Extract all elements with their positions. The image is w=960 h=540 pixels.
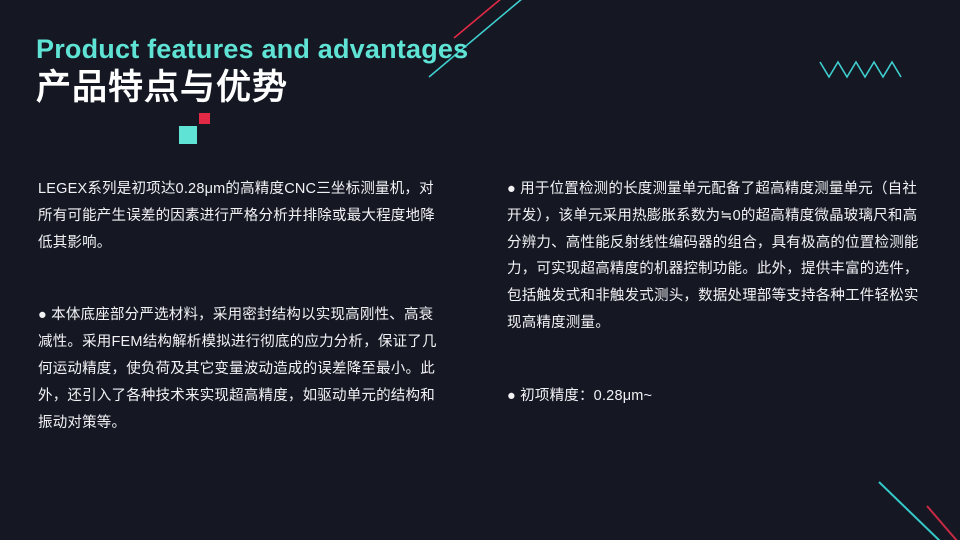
left-paragraph-2: ● 本体底座部分严选材料，采用密封结构以实现高刚性、高衰减性。采用FEM结构解析… [38,302,438,436]
diagonal-line-cyan-bottom [879,482,941,540]
right-paragraph-1: ● 用于位置检测的长度测量单元配备了超高精度测量单元（自社开发），该单元采用热膨… [507,176,919,337]
right-text-column: ● 用于位置检测的长度测量单元配备了超高精度测量单元（自社开发），该单元采用热膨… [507,176,919,410]
diagonal-line-red-bottom [927,506,958,540]
left-text-column: LEGEX系列是初项达0.28μm的高精度CNC三坐标测量机，对所有可能产生误差… [38,176,438,437]
slide-canvas: Product features and advantages 产品特点与优势 … [0,0,960,540]
left-paragraph-1: LEGEX系列是初项达0.28μm的高精度CNC三坐标测量机，对所有可能产生误差… [38,176,438,256]
zigzag-line [820,62,901,77]
title-english: Product features and advantages [36,34,468,65]
title-chinese: 产品特点与优势 [36,67,468,109]
page-title: Product features and advantages 产品特点与优势 [36,34,468,109]
right-paragraph-2: ● 初项精度：0.28μm~ [507,383,919,410]
diagonal-line-red-top [454,0,502,38]
cyan-square-marker [179,126,197,144]
red-square-marker [199,113,210,124]
